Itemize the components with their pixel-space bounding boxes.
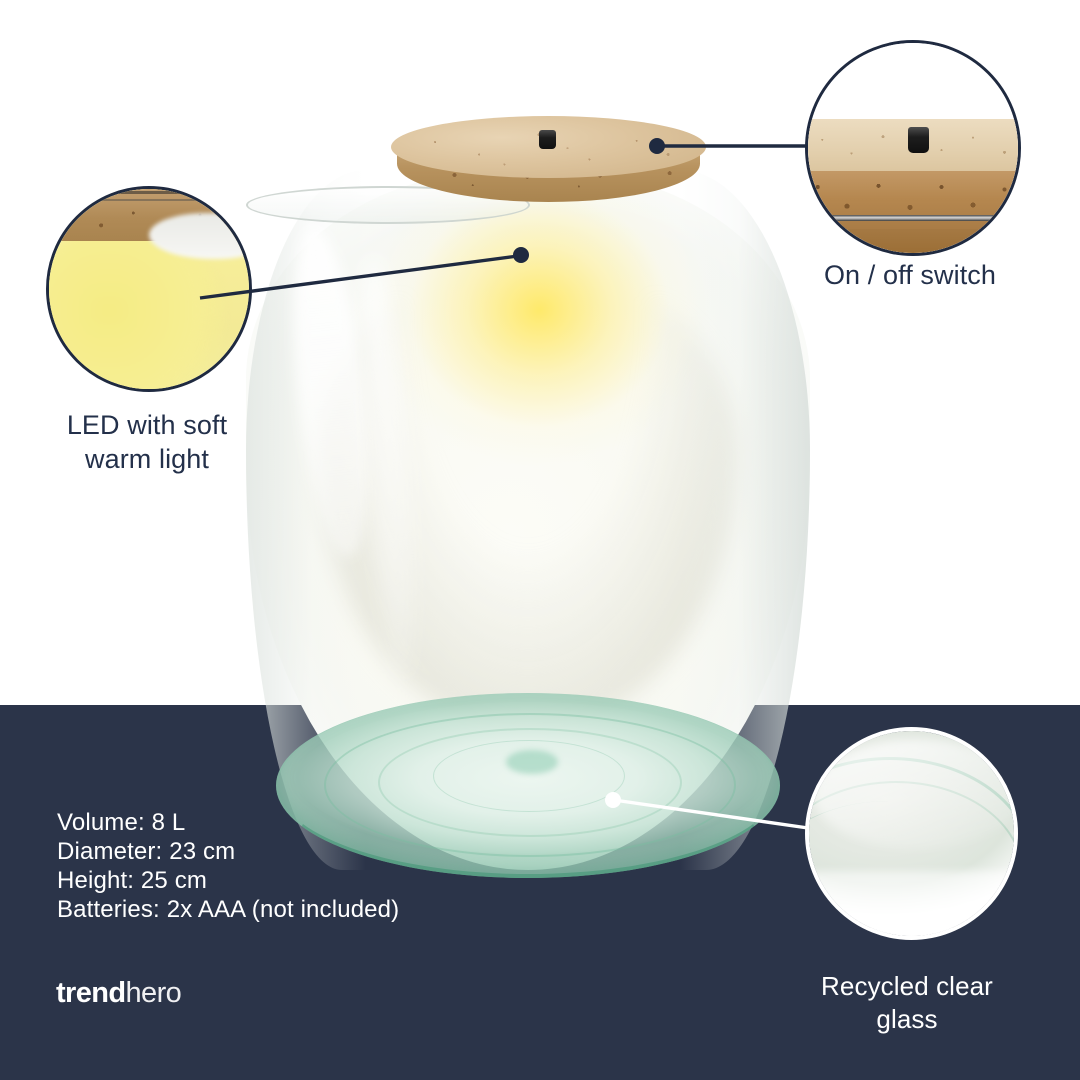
glass-closeup-highlight [813,739,1018,849]
brand-logo-bold: trend [56,977,126,1009]
glass-closeup-lower-white [805,871,1018,940]
callout-circle-glass[interactable] [805,727,1018,940]
callout-label-switch: On / off switch [800,258,1020,292]
callout-label-led-line1: LED with soft [36,408,258,442]
infographic-canvas: LED with soft warm light On / off switch… [0,0,1080,1080]
callout-circle-led[interactable] [46,186,252,392]
callout-label-led-line2: warm light [36,442,258,476]
led-closeup-metal-rim [46,199,252,201]
switch-closeup-metal-rim [805,215,1021,221]
spec-height: Height: 25 cm [57,866,399,895]
callout-label-glass-line2: glass [797,1003,1017,1036]
brand-logo-trendhero: trendhero [56,977,181,1010]
spec-batteries: Batteries: 2x AAA (not included) [57,895,399,924]
spec-diameter: Diameter: 23 cm [57,837,399,866]
callout-label-glass-line1: Recycled clear [797,970,1017,1003]
spec-volume: Volume: 8 L [57,808,399,837]
product-specs-list: Volume: 8 L Diameter: 23 cm Height: 25 c… [57,808,399,924]
on-off-switch-icon-zoomed [908,127,929,153]
callout-label-glass: Recycled clear glass [797,970,1017,1036]
led-closeup-metal-rim [46,191,252,194]
on-off-switch-icon[interactable] [539,130,556,149]
brand-logo-light: hero [126,977,182,1009]
callout-label-switch-line1: On / off switch [800,258,1020,292]
callout-circle-switch[interactable] [805,40,1021,256]
product-glass-jar-lantern [228,108,828,878]
callout-label-led: LED with soft warm light [36,408,258,477]
cork-lid [391,108,706,220]
